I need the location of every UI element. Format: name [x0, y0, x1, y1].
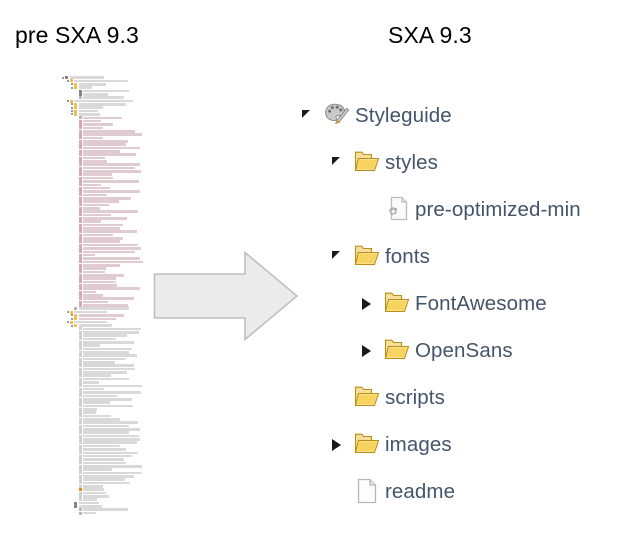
page-title-right: SXA 9.3	[388, 22, 472, 49]
folder-icon	[354, 243, 380, 271]
expand-toggle-placeholder	[76, 405, 78, 407]
expand-toggle-placeholder	[76, 291, 78, 293]
expand-toggle-placeholder	[76, 499, 78, 501]
expand-toggle-icon[interactable]	[71, 83, 73, 85]
expand-toggle-icon[interactable]	[71, 314, 73, 316]
expand-toggle-placeholder	[332, 378, 354, 418]
expand-toggle-placeholder	[76, 348, 78, 350]
folder-icon	[354, 384, 380, 412]
expand-toggle-icon[interactable]	[71, 110, 73, 112]
expand-toggle-placeholder	[76, 341, 78, 343]
expand-toggle-placeholder	[76, 495, 78, 497]
expand-toggle-placeholder	[76, 271, 78, 273]
tree-node-label: fonts	[385, 247, 430, 268]
expand-toggle-expanded-icon[interactable]	[332, 237, 354, 277]
expand-toggle-placeholder	[76, 395, 78, 397]
expand-toggle-placeholder	[76, 425, 78, 427]
gray-icon	[79, 512, 82, 515]
expand-toggle-placeholder	[76, 237, 78, 239]
tree-node-label: pre-optimized-min	[415, 200, 581, 221]
expand-toggle-placeholder	[76, 120, 78, 122]
expand-toggle-placeholder	[76, 381, 78, 383]
expand-toggle-placeholder	[76, 298, 78, 300]
expand-toggle-placeholder	[76, 194, 78, 196]
expand-toggle-placeholder	[76, 247, 78, 249]
expand-toggle-placeholder	[362, 190, 384, 230]
folder-icon	[384, 337, 410, 365]
expand-toggle-icon[interactable]	[71, 103, 73, 105]
expand-toggle-icon[interactable]	[67, 80, 69, 82]
expand-toggle-placeholder	[76, 469, 78, 471]
expand-toggle-placeholder	[76, 251, 78, 253]
expand-toggle-placeholder	[76, 459, 78, 461]
expand-toggle-placeholder	[76, 385, 78, 387]
expand-toggle-icon[interactable]	[67, 311, 69, 313]
tree-node-readme[interactable]: readme	[298, 472, 455, 512]
expand-toggle-placeholder	[76, 150, 78, 152]
expand-toggle-placeholder	[76, 147, 78, 149]
tree-node-pre-optimized-min[interactable]: pre-optimized-min	[298, 190, 581, 230]
expand-toggle-placeholder	[76, 130, 78, 132]
expand-toggle-placeholder	[76, 261, 78, 263]
expand-toggle-icon[interactable]	[67, 321, 69, 323]
expand-toggle-expanded-icon[interactable]	[302, 96, 324, 136]
expand-toggle-placeholder	[76, 207, 78, 209]
expand-toggle-placeholder	[76, 479, 78, 481]
expand-toggle-placeholder	[76, 144, 78, 146]
tree-node-label: styles	[385, 153, 438, 174]
expand-toggle-icon[interactable]	[71, 87, 73, 89]
expand-toggle-placeholder	[76, 358, 78, 360]
expand-toggle-placeholder	[76, 301, 78, 303]
expand-toggle-placeholder	[76, 281, 78, 283]
expand-toggle-icon[interactable]	[62, 77, 64, 79]
expand-toggle-placeholder	[76, 435, 78, 437]
expand-toggle-placeholder	[76, 415, 78, 417]
expand-toggle-expanded-icon[interactable]	[332, 143, 354, 183]
expand-toggle-placeholder	[76, 512, 78, 514]
expand-toggle-placeholder	[76, 378, 78, 380]
expand-toggle-placeholder	[76, 258, 78, 260]
expand-toggle-placeholder	[76, 388, 78, 390]
expand-toggle-icon[interactable]	[71, 107, 73, 109]
tree-node-images[interactable]: images	[298, 425, 452, 465]
expand-toggle-placeholder	[76, 204, 78, 206]
expand-toggle-placeholder	[76, 408, 78, 410]
expand-toggle-placeholder	[76, 221, 78, 223]
expand-toggle-placeholder	[76, 365, 78, 367]
expand-toggle-placeholder	[76, 284, 78, 286]
tree-node-styleguide[interactable]: Styleguide	[298, 96, 452, 136]
expand-toggle-placeholder	[76, 442, 78, 444]
expand-toggle-collapsed-icon[interactable]	[362, 331, 384, 371]
expand-toggle-placeholder	[76, 234, 78, 236]
expand-toggle-placeholder	[76, 331, 78, 333]
expand-toggle-placeholder	[76, 170, 78, 172]
expand-toggle-placeholder	[76, 224, 78, 226]
expand-toggle-placeholder	[76, 368, 78, 370]
expand-toggle-placeholder	[76, 227, 78, 229]
expand-toggle-placeholder	[76, 371, 78, 373]
expand-toggle-collapsed-icon[interactable]	[332, 425, 354, 465]
config-file-icon	[384, 196, 410, 224]
expand-toggle-placeholder	[76, 278, 78, 280]
expand-toggle-placeholder	[76, 492, 78, 494]
expand-toggle-placeholder	[76, 345, 78, 347]
expand-toggle-placeholder	[76, 180, 78, 182]
expand-toggle-placeholder	[76, 90, 78, 92]
expand-toggle-placeholder	[76, 124, 78, 126]
expand-toggle-placeholder	[76, 244, 78, 246]
expand-toggle-icon[interactable]	[71, 325, 73, 327]
expand-toggle-placeholder	[76, 294, 78, 296]
expand-toggle-placeholder	[76, 164, 78, 166]
expand-toggle-placeholder	[76, 462, 78, 464]
expand-toggle-placeholder	[76, 392, 78, 394]
expand-toggle-placeholder	[76, 214, 78, 216]
tree-node-styles[interactable]: styles	[298, 143, 438, 183]
expand-toggle-placeholder	[76, 184, 78, 186]
expand-toggle-placeholder	[76, 351, 78, 353]
expand-toggle-placeholder	[76, 154, 78, 156]
expand-toggle-placeholder	[76, 140, 78, 142]
expand-toggle-placeholder	[76, 201, 78, 203]
tree-node-label: readme	[385, 482, 455, 503]
expand-toggle-placeholder	[76, 231, 78, 233]
expand-toggle-placeholder	[76, 167, 78, 169]
expand-toggle-placeholder	[76, 97, 78, 99]
expand-toggle-placeholder	[76, 475, 78, 477]
expand-toggle-placeholder	[76, 274, 78, 276]
expand-toggle-placeholder	[76, 254, 78, 256]
expand-toggle-placeholder	[76, 355, 78, 357]
expand-toggle-placeholder	[76, 455, 78, 457]
expand-toggle-placeholder	[76, 187, 78, 189]
expand-toggle-placeholder	[76, 177, 78, 179]
expand-toggle-placeholder	[76, 241, 78, 243]
folder-icon	[354, 431, 380, 459]
expand-toggle-placeholder	[76, 160, 78, 162]
expand-toggle-collapsed-icon[interactable]	[362, 284, 384, 324]
expand-toggle-placeholder	[76, 432, 78, 434]
expand-toggle-placeholder	[76, 452, 78, 454]
expand-toggle-placeholder	[76, 422, 78, 424]
expand-toggle-placeholder	[76, 174, 78, 176]
expand-toggle-placeholder	[76, 428, 78, 430]
expand-toggle-placeholder	[76, 191, 78, 193]
expand-toggle-placeholder	[76, 465, 78, 467]
expand-toggle-placeholder	[76, 485, 78, 487]
expand-toggle-placeholder	[76, 445, 78, 447]
page-title-left: pre SXA 9.3	[15, 22, 139, 49]
tree-node-label: Styleguide	[355, 106, 452, 127]
expand-toggle-placeholder	[76, 304, 78, 306]
expand-toggle-placeholder	[76, 157, 78, 159]
expand-toggle-placeholder	[76, 211, 78, 213]
expand-toggle-icon[interactable]	[67, 100, 69, 102]
expand-toggle-placeholder	[76, 402, 78, 404]
expand-toggle-placeholder	[76, 93, 78, 95]
tree-node-fontawesome[interactable]: FontAwesome	[298, 284, 547, 324]
folder-icon	[354, 149, 380, 177]
expand-toggle-placeholder	[76, 482, 78, 484]
tree-node-opensans[interactable]: OpenSans	[298, 331, 513, 371]
expand-toggle-placeholder	[76, 288, 78, 290]
expand-toggle-placeholder	[76, 489, 78, 491]
expand-toggle-placeholder	[71, 505, 73, 507]
expand-toggle-placeholder	[71, 502, 73, 504]
expand-toggle-placeholder	[76, 412, 78, 414]
expand-toggle-placeholder	[76, 438, 78, 440]
tree-node-fonts[interactable]: fonts	[298, 237, 430, 277]
tree-node-label: OpenSans	[415, 341, 513, 362]
expand-toggle-placeholder	[76, 134, 78, 136]
folder-icon	[384, 290, 410, 318]
expand-toggle-placeholder	[76, 448, 78, 450]
expand-toggle-placeholder	[76, 264, 78, 266]
transform-arrow-icon	[153, 250, 299, 342]
tree-node-label: images	[385, 435, 452, 456]
legacy-item-tree[interactable]	[62, 76, 152, 546]
expand-toggle-icon[interactable]	[71, 318, 73, 320]
expand-toggle-placeholder	[76, 418, 78, 420]
legacy-tree-row-label	[83, 512, 96, 515]
expand-toggle-placeholder	[76, 217, 78, 219]
expand-toggle-placeholder	[76, 375, 78, 377]
document-icon	[354, 478, 380, 506]
expand-toggle-icon[interactable]	[71, 113, 73, 115]
expand-toggle-placeholder	[76, 197, 78, 199]
tree-node-scripts[interactable]: scripts	[298, 378, 445, 418]
palette-icon	[324, 102, 350, 130]
expand-toggle-placeholder	[76, 335, 78, 337]
tree-node-label: FontAwesome	[415, 294, 547, 315]
styleguide-tree[interactable]: Styleguidestylespre-optimized-minfontsFo…	[298, 96, 638, 516]
legacy-tree-row[interactable]	[62, 512, 96, 515]
expand-toggle-placeholder	[76, 137, 78, 139]
expand-toggle-placeholder	[76, 398, 78, 400]
expand-toggle-placeholder	[76, 509, 78, 511]
expand-toggle-placeholder	[332, 472, 354, 512]
expand-toggle-placeholder	[76, 328, 78, 330]
expand-toggle-placeholder	[76, 338, 78, 340]
expand-toggle-placeholder	[76, 361, 78, 363]
expand-toggle-placeholder	[76, 472, 78, 474]
expand-toggle-placeholder	[76, 127, 78, 129]
tree-node-label: scripts	[385, 388, 445, 409]
expand-toggle-placeholder	[76, 117, 78, 119]
expand-toggle-placeholder	[76, 268, 78, 270]
expand-toggle-placeholder	[71, 308, 73, 310]
